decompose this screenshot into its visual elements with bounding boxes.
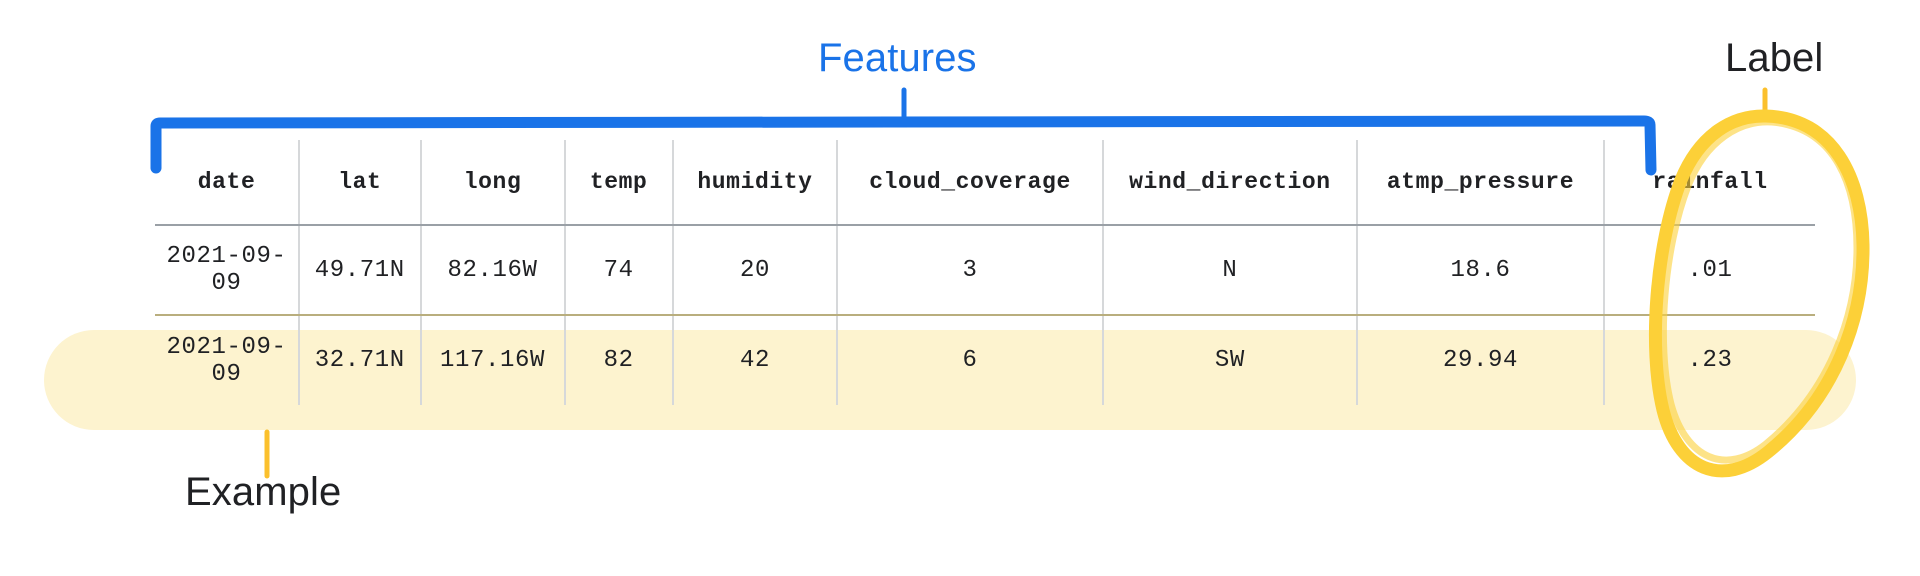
column-header-atmp-pressure: atmp_pressure [1357, 140, 1604, 225]
column-header-temp: temp [565, 140, 673, 225]
cell-rainfall: .23 [1604, 315, 1815, 405]
cell-cloud-coverage: 3 [837, 225, 1103, 315]
cell-date: 2021-09-09 [155, 225, 299, 315]
table-row: 2021-09-09 32.71N 117.16W 82 42 6 SW 29.… [155, 315, 1815, 405]
cell-temp: 74 [565, 225, 673, 315]
cell-date: 2021-09-09 [155, 315, 299, 405]
cell-humidity: 42 [673, 315, 838, 405]
column-header-long: long [421, 140, 565, 225]
cell-wind-direction: SW [1103, 315, 1357, 405]
cell-lat: 32.71N [299, 315, 420, 405]
column-header-date: date [155, 140, 299, 225]
cell-lat: 49.71N [299, 225, 420, 315]
column-header-cloud-coverage: cloud_coverage [837, 140, 1103, 225]
cell-cloud-coverage: 6 [837, 315, 1103, 405]
table-row: 2021-09-09 49.71N 82.16W 74 20 3 N 18.6 … [155, 225, 1815, 315]
cell-long: 117.16W [421, 315, 565, 405]
cell-temp: 82 [565, 315, 673, 405]
cell-long: 82.16W [421, 225, 565, 315]
column-header-rainfall: rainfall [1604, 140, 1815, 225]
dataset-table-container: date lat long temp humidity cloud_covera… [0, 0, 1920, 576]
column-header-lat: lat [299, 140, 420, 225]
cell-humidity: 20 [673, 225, 838, 315]
table-body: 2021-09-09 49.71N 82.16W 74 20 3 N 18.6 … [155, 225, 1815, 405]
table-header-row: date lat long temp humidity cloud_covera… [155, 140, 1815, 225]
column-header-wind-direction: wind_direction [1103, 140, 1357, 225]
cell-wind-direction: N [1103, 225, 1357, 315]
diagram-canvas: date lat long temp humidity cloud_covera… [0, 0, 1920, 576]
cell-atmp-pressure: 29.94 [1357, 315, 1604, 405]
cell-atmp-pressure: 18.6 [1357, 225, 1604, 315]
table-header: date lat long temp humidity cloud_covera… [155, 140, 1815, 225]
column-header-humidity: humidity [673, 140, 838, 225]
cell-rainfall: .01 [1604, 225, 1815, 315]
dataset-table: date lat long temp humidity cloud_covera… [155, 140, 1815, 405]
